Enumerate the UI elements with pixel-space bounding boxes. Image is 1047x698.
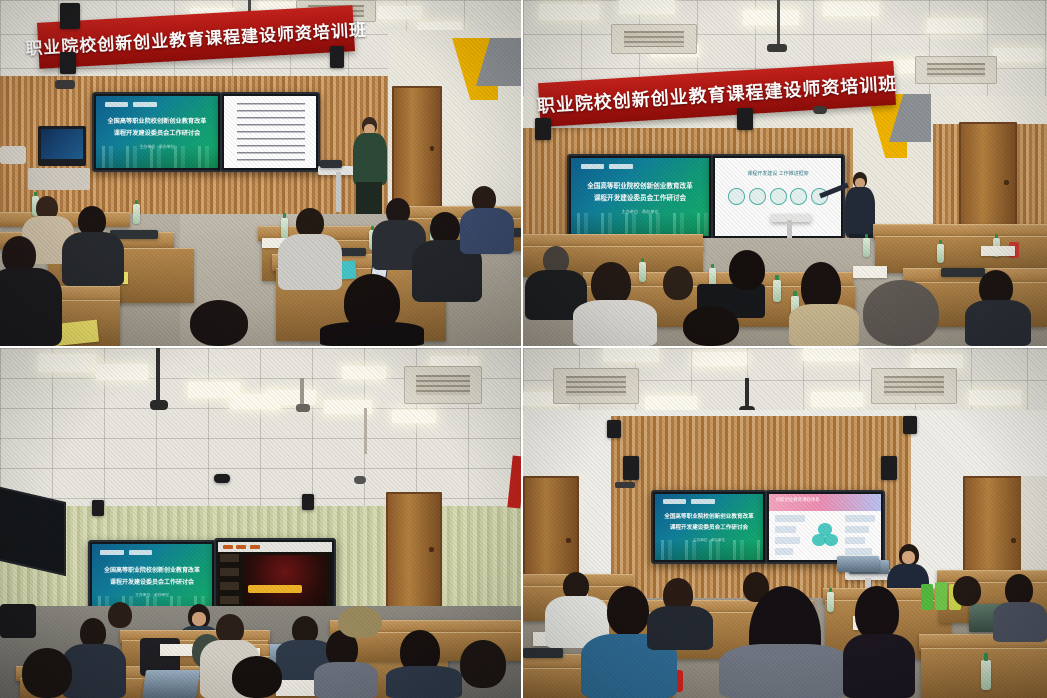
- ac-vent: [915, 56, 997, 84]
- beverage-bottle: [921, 584, 933, 610]
- title-slide: 全国高等职业院校创新创业教育改革 课程开发建设委员会工作研讨会 主办单位 · 承…: [96, 96, 218, 168]
- ceiling-bottom-left: [0, 348, 521, 524]
- water-bottle: [937, 244, 944, 263]
- audience-member: [232, 656, 282, 698]
- audience-member: [863, 280, 939, 346]
- display-right[interactable]: [220, 92, 320, 172]
- audience-member: [663, 266, 693, 300]
- audience-member: [855, 586, 899, 640]
- wall-speaker: [60, 3, 80, 29]
- audience-member: [338, 606, 382, 638]
- water-bottle: [133, 204, 140, 224]
- wall-speaker: [737, 108, 753, 130]
- panel-bottom-left[interactable]: 全国高等职业院校创新创业教育改革 课程开发建设委员会工作研讨会 主办单位 · 承…: [0, 348, 521, 698]
- wall-speaker: [214, 474, 230, 483]
- audience-member: [729, 250, 765, 290]
- ac-vent: [404, 366, 482, 404]
- display-right[interactable]: 课程开发建设 工作推进框架: [711, 154, 845, 240]
- water-bottle: [639, 262, 646, 282]
- wall-speaker: [623, 456, 639, 480]
- water-bottle: [827, 592, 834, 612]
- laptop: [142, 670, 200, 698]
- audience-member: [683, 306, 739, 346]
- door[interactable]: [392, 86, 442, 216]
- display-left[interactable]: 全国高等职业院校创新创业教育改革 课程开发建设委员会工作研讨会 主办单位 · 承…: [92, 92, 222, 172]
- audience-member: [460, 640, 506, 688]
- water-bottle: [981, 660, 991, 690]
- water-bottle: [863, 238, 870, 257]
- presenter-body: [353, 133, 387, 185]
- beverage-bottle: [935, 582, 947, 610]
- ac-vent: [871, 368, 957, 404]
- door[interactable]: [386, 492, 442, 612]
- audience-member: [22, 648, 72, 698]
- wall-speaker: [92, 500, 104, 516]
- water-bottle: [773, 280, 781, 302]
- display-right[interactable]: 创新创业教育课程体系: [765, 490, 885, 564]
- photo-collage: 职业院校创新创业教育课程建设师资培训班 全国高等职业院校创新创业教育改革 课程开…: [0, 0, 1047, 698]
- audience-member: [108, 602, 132, 628]
- ceiling-camera: [354, 476, 366, 484]
- ceiling-camera: [55, 80, 75, 89]
- ac-vent: [553, 368, 639, 404]
- panel-top-left[interactable]: 职业院校创新创业教育课程建设师资培训班 全国高等职业院校创新创业教育改革 课程开…: [0, 0, 521, 346]
- ceiling-camera: [813, 106, 827, 114]
- ceiling-microphone: [777, 0, 780, 48]
- audience-member: [190, 300, 248, 346]
- document-slide: [224, 96, 316, 168]
- laptop: [320, 160, 342, 168]
- title-slide: 全国高等职业院校创新创业教育改革 课程开发建设委员会工作研讨会 主办单位 · 承…: [655, 494, 763, 560]
- audience-member: [953, 576, 981, 606]
- display-left[interactable]: 全国高等职业院校创新创业教育改革 课程开发建设委员会工作研讨会 主办单位 · 承…: [567, 154, 713, 240]
- display-left[interactable]: 全国高等职业院校创新创业教育改革 课程开发建设委员会工作研讨会 主办单位 · 承…: [651, 490, 767, 564]
- wall-speaker: [302, 494, 314, 510]
- wall-speaker: [330, 46, 344, 68]
- laptop: [523, 648, 563, 658]
- wall-speaker: [535, 118, 551, 140]
- panel-top-right[interactable]: 职业院校创新创业教育课程建设师资培训班 全国高等职业院校创新创业教育改革 课程开…: [523, 0, 1047, 346]
- office-chair: [0, 604, 36, 638]
- laptop: [837, 556, 879, 572]
- audience-member: [607, 586, 649, 636]
- ceiling-microphone: [156, 348, 160, 406]
- side-display[interactable]: [0, 486, 66, 576]
- title-slide: 全国高等职业院校创新创业教育改革 课程开发建设委员会工作研讨会 主办单位 · 承…: [571, 158, 709, 236]
- ac-vent: [611, 24, 697, 54]
- water-bottle: [281, 218, 288, 239]
- framework-slide: 创新创业教育课程体系: [769, 494, 881, 560]
- panel-bottom-right[interactable]: 全国高等职业院校创新创业教育改革 课程开发建设委员会工作研讨会 主办单位 · 承…: [523, 348, 1047, 698]
- control-desk: [28, 168, 90, 190]
- video-slide: [218, 542, 332, 616]
- presenter-body: [845, 187, 875, 237]
- wall-speaker: [60, 52, 76, 74]
- wall-speaker: [607, 420, 621, 438]
- wall-speaker: [881, 456, 897, 480]
- laptop: [941, 268, 985, 277]
- wall-speaker: [903, 416, 917, 434]
